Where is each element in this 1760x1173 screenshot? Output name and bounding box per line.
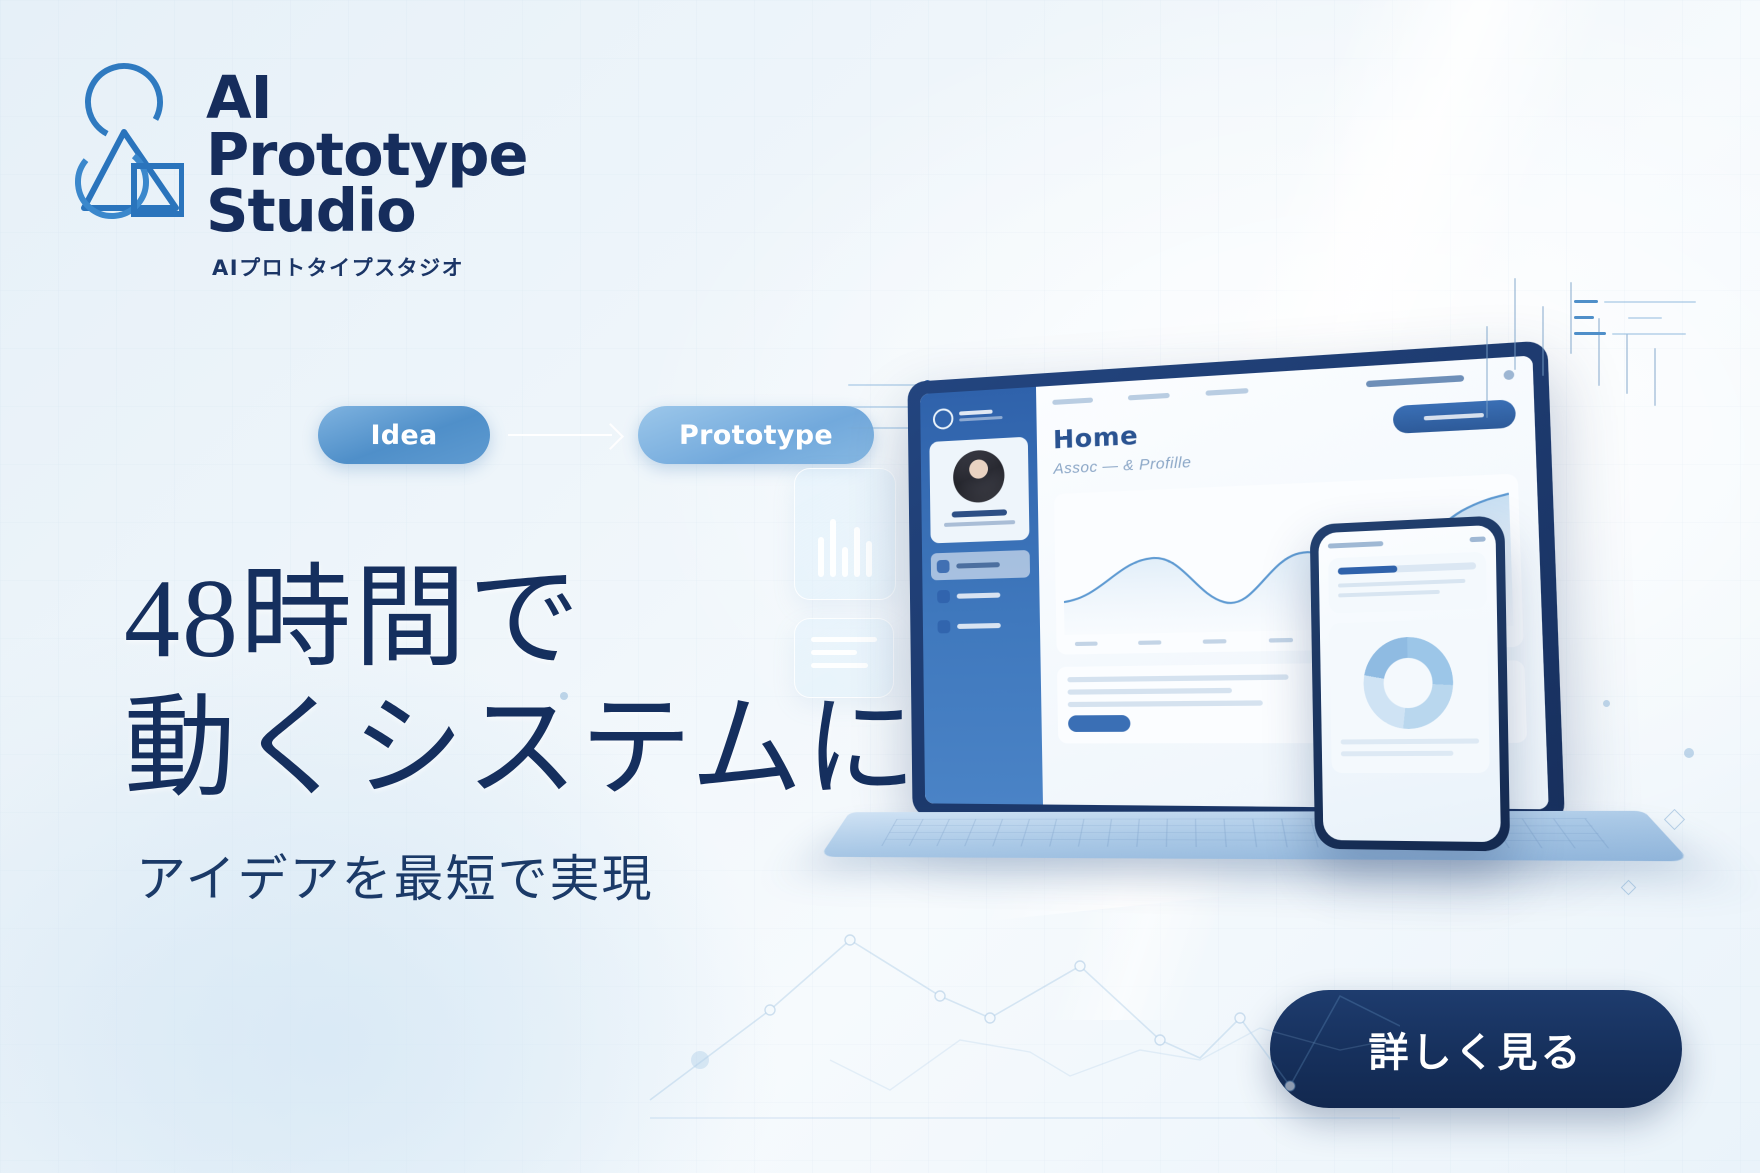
topnav-item-wbbar[interactable] [1206, 388, 1249, 396]
sidebar-nav [931, 550, 1031, 641]
brand-line-1: AI [206, 70, 528, 127]
brand-line-3: Studio [206, 183, 528, 240]
app-logo [933, 403, 1028, 429]
profile-card [929, 437, 1029, 544]
hero-banner: AI Prototype Studio AIプロトタイプスタジオ Idea Pr… [0, 0, 1760, 1173]
avatar [953, 449, 1005, 504]
document-card-icon [794, 618, 894, 698]
decor-lines [1574, 300, 1716, 348]
brand-wordmark: AI Prototype Studio AIプロトタイプスタジオ [206, 58, 528, 282]
device-mockup-cluster: Home Assoc — & Profille [700, 350, 1760, 950]
account-label[interactable] [1366, 374, 1464, 386]
decor-dot-1 [1684, 748, 1694, 758]
circle-triangle-square-logo-icon [72, 58, 184, 226]
app-action-button[interactable] [1393, 399, 1516, 434]
phone-progress-card [1328, 552, 1487, 614]
app-logo-icon [933, 408, 954, 430]
decor-dot-2 [1603, 700, 1610, 707]
phone-header-title [1328, 541, 1383, 548]
phone-donut-card [1329, 619, 1489, 773]
idea-pill[interactable]: Idea [318, 406, 490, 464]
phone-header [1328, 536, 1486, 548]
brand-logo[interactable]: AI Prototype Studio AIプロトタイプスタジオ [72, 58, 528, 282]
donut-chart-icon [1363, 636, 1454, 730]
app-sidebar [920, 387, 1043, 805]
sidebar-item-files[interactable] [931, 580, 1030, 610]
app-topnav [1052, 370, 1514, 407]
background-line-chart [640, 900, 1400, 1130]
bar-chart-card-icon [794, 468, 896, 600]
laptop-base [820, 811, 1690, 861]
profile-name [952, 509, 1007, 517]
profile-role [944, 520, 1015, 527]
app-list-card [1057, 663, 1333, 743]
app-page-header: Home Assoc — & Profille [1053, 399, 1517, 478]
phone-header-action[interactable] [1470, 536, 1486, 542]
phone-mockup [1310, 515, 1511, 851]
sidebar-item-home[interactable] [931, 550, 1030, 580]
brand-line-2: Prototype [206, 127, 528, 184]
phone-screen [1318, 525, 1501, 842]
topnav-item-ident[interactable] [1128, 393, 1170, 401]
brand-subtitle: AIプロトタイプスタジオ [212, 252, 528, 282]
topnav-item-focus[interactable] [1052, 397, 1093, 405]
arrow-right-icon [490, 420, 638, 450]
decor-dot-3 [560, 692, 568, 700]
sidebar-item-notes[interactable] [932, 611, 1032, 641]
progress-bar [1338, 562, 1476, 575]
